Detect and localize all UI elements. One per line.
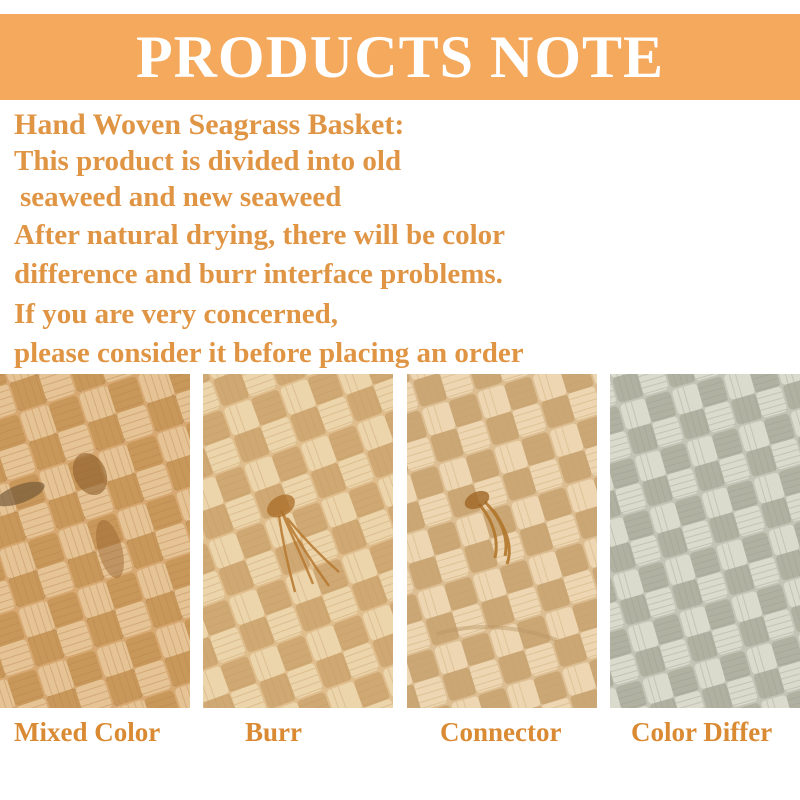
description-line-2: This product is divided into old <box>14 147 786 176</box>
weave-texture-icon <box>203 374 393 708</box>
mixed-color-sample <box>0 374 190 708</box>
burr-sample <box>203 374 393 708</box>
description-line-5: difference and burr interface problems. <box>14 260 786 289</box>
caption-mixed-color: Mixed Color <box>0 712 183 762</box>
description-line-3: seaweed and new seaweed <box>14 183 786 212</box>
caption-color-differ: Color Differ <box>609 712 800 762</box>
product-description: Hand Woven Seagrass Basket: This product… <box>14 104 786 368</box>
connector-sample <box>407 374 597 708</box>
caption-row: Mixed Color Burr Connector Color Differ <box>0 712 800 762</box>
description-line-4: After natural drying, there will be colo… <box>14 221 786 250</box>
description-line-7: please consider it before placing an ord… <box>14 339 786 368</box>
page-title: PRODUCTS NOTE <box>136 27 664 87</box>
weave-texture-icon <box>0 374 190 708</box>
description-line-6: If you are very concerned, <box>14 300 786 329</box>
header-banner: PRODUCTS NOTE <box>0 14 800 100</box>
caption-connector: Connector <box>414 712 609 762</box>
caption-burr: Burr <box>183 712 414 762</box>
weave-texture-icon <box>407 374 597 708</box>
description-line-1: Hand Woven Seagrass Basket: <box>14 110 786 140</box>
color-differ-sample <box>610 374 800 708</box>
sample-photo-strip <box>0 374 800 708</box>
products-note-page: PRODUCTS NOTE Hand Woven Seagrass Basket… <box>0 0 800 800</box>
weave-texture-icon <box>610 374 800 708</box>
